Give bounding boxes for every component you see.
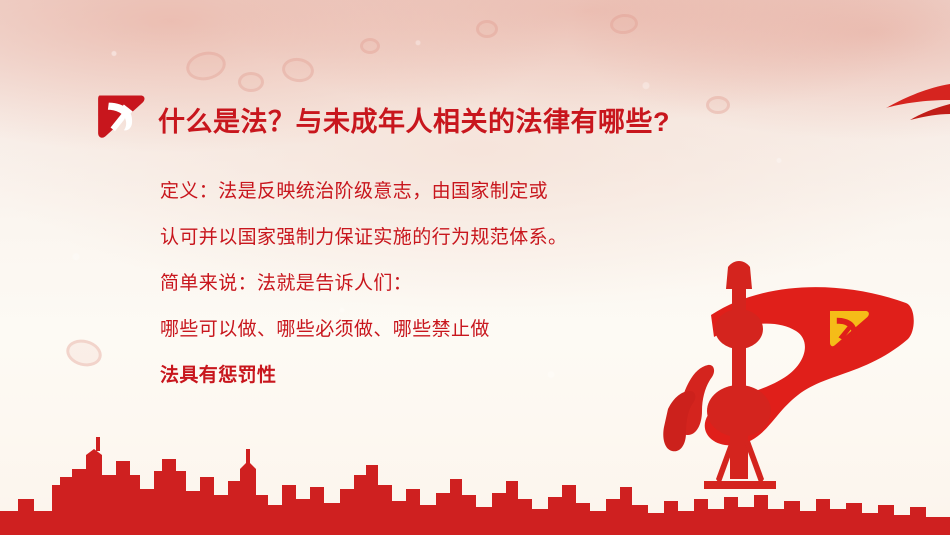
ink-blot-decoration bbox=[238, 72, 264, 92]
red-ribbon-top-right-icon bbox=[830, 78, 950, 138]
body-line-1: 定义：法是反映统治阶级意志，由国家制定或 bbox=[160, 182, 720, 201]
city-skyline-silhouette-icon bbox=[0, 415, 950, 535]
slide-canvas: 什么是法？与未成年人相关的法律有哪些? 定义：法是反映统治阶级意志，由国家制定或… bbox=[0, 0, 950, 535]
ink-blot-decoration bbox=[360, 38, 380, 54]
ink-blot-decoration bbox=[706, 96, 730, 114]
page-title: 什么是法？与未成年人相关的法律有哪些? bbox=[158, 100, 670, 139]
party-emblem-hammer-sickle-icon bbox=[96, 92, 150, 140]
ink-blot-decoration bbox=[476, 20, 498, 38]
